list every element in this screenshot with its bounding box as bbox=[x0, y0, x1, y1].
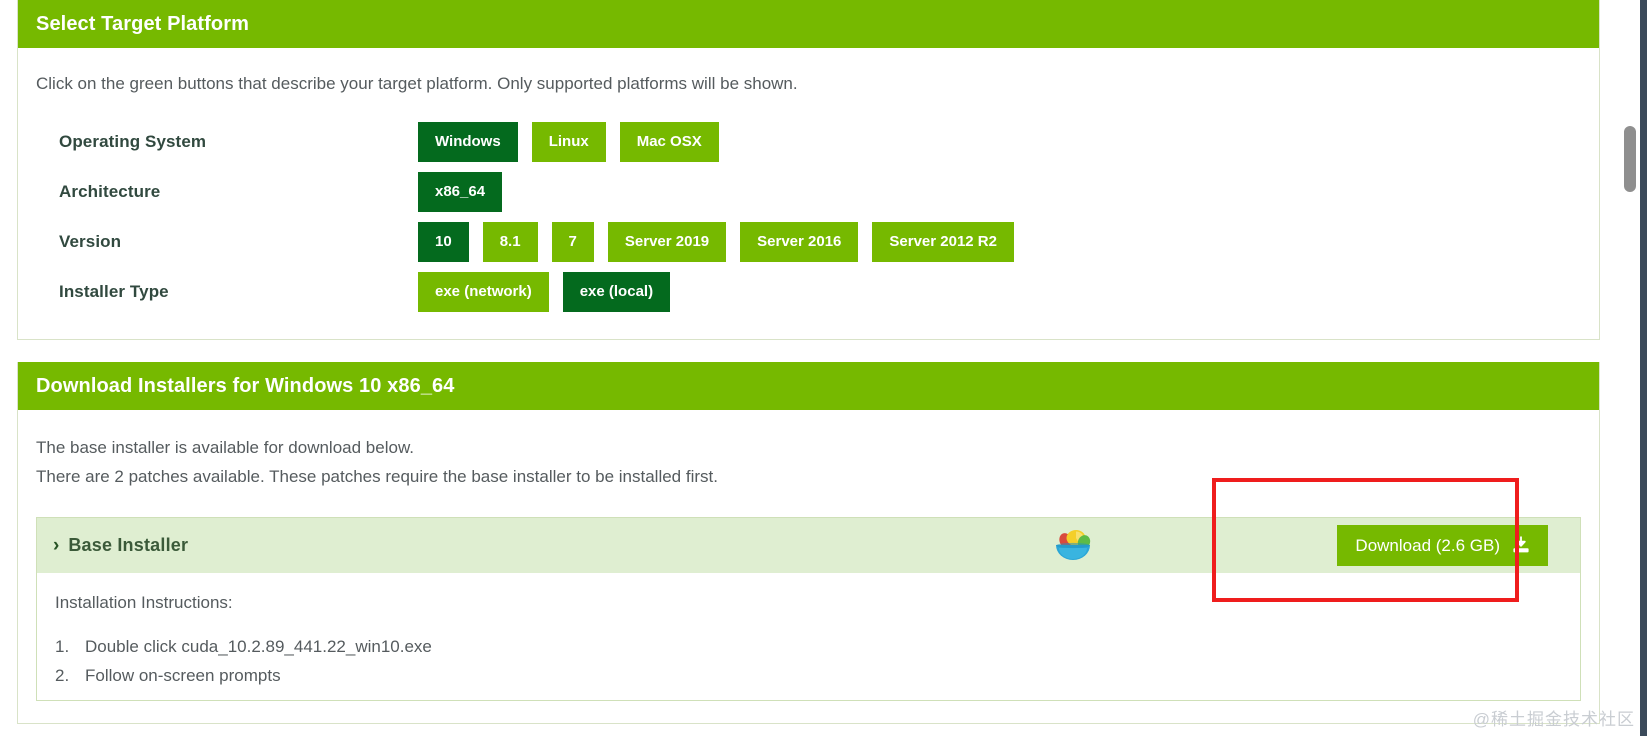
option-server-2016[interactable]: Server 2016 bbox=[740, 222, 858, 262]
option-server-2012-r2[interactable]: Server 2012 R2 bbox=[872, 222, 1014, 262]
option-version-8-1[interactable]: 8.1 bbox=[483, 222, 538, 262]
download-installers-panel: Download Installers for Windows 10 x86_6… bbox=[17, 362, 1600, 724]
download-button[interactable]: Download (2.6 GB) bbox=[1337, 525, 1548, 566]
base-installer-body: Installation Instructions: 1. Double cli… bbox=[37, 573, 1580, 700]
selector-options-installer-type: exe (network) exe (local) bbox=[418, 272, 670, 312]
option-exe-network[interactable]: exe (network) bbox=[418, 272, 549, 312]
selector-options-operating-system: Windows Linux Mac OSX bbox=[418, 122, 719, 162]
selector-label-version: Version bbox=[36, 232, 418, 252]
download-installers-body: The base installer is available for down… bbox=[18, 410, 1599, 723]
selector-options-architecture: x86_64 bbox=[418, 172, 502, 212]
instruction-text: Double click cuda_10.2.89_441.22_win10.e… bbox=[85, 637, 432, 656]
select-target-platform-panel: Select Target Platform Click on the gree… bbox=[17, 0, 1600, 340]
download-button-label: Download (2.6 GB) bbox=[1355, 537, 1500, 554]
content-column: Select Target Platform Click on the gree… bbox=[17, 0, 1600, 724]
download-tray-icon bbox=[1512, 536, 1530, 554]
selector-row-architecture: Architecture x86_64 bbox=[36, 167, 1581, 217]
download-description: The base installer is available for down… bbox=[36, 433, 1581, 491]
vertical-scrollbar[interactable] bbox=[1623, 0, 1637, 736]
panel-spacer bbox=[17, 340, 1600, 362]
option-exe-local[interactable]: exe (local) bbox=[563, 272, 670, 312]
select-target-platform-title: Select Target Platform bbox=[18, 0, 1599, 48]
scrollbar-thumb[interactable] bbox=[1624, 126, 1636, 192]
selector-row-version: Version 10 8.1 7 Server 2019 Server 2016… bbox=[36, 217, 1581, 267]
selector-label-operating-system: Operating System bbox=[36, 132, 418, 152]
installation-instructions-list: 1. Double click cuda_10.2.89_441.22_win1… bbox=[55, 632, 1580, 690]
selector-row-installer-type: Installer Type exe (network) exe (local) bbox=[36, 267, 1581, 317]
selector-label-architecture: Architecture bbox=[36, 182, 418, 202]
instruction-text: Follow on-screen prompts bbox=[85, 666, 281, 685]
base-installer-card: › Base Installer bbox=[36, 517, 1581, 701]
page-root: Select Target Platform Click on the gree… bbox=[0, 0, 1647, 736]
select-target-platform-body: Click on the green buttons that describe… bbox=[18, 48, 1599, 339]
instruction-number: 2. bbox=[55, 661, 69, 690]
download-installers-title: Download Installers for Windows 10 x86_6… bbox=[18, 362, 1599, 410]
option-mac-osx[interactable]: Mac OSX bbox=[620, 122, 719, 162]
instruction-item: 2. Follow on-screen prompts bbox=[55, 661, 1580, 690]
option-version-10[interactable]: 10 bbox=[418, 222, 469, 262]
fruit-bowl-icon bbox=[1050, 526, 1094, 568]
base-installer-label: Base Installer bbox=[68, 535, 188, 556]
base-installer-header[interactable]: › Base Installer bbox=[37, 518, 1580, 573]
selector-row-operating-system: Operating System Windows Linux Mac OSX bbox=[36, 117, 1581, 167]
watermark-text: @稀土掘金技术社区 bbox=[1473, 705, 1635, 730]
option-x86-64[interactable]: x86_64 bbox=[418, 172, 502, 212]
chevron-right-icon[interactable]: › bbox=[53, 536, 59, 555]
installation-instructions-title: Installation Instructions: bbox=[55, 593, 1580, 613]
option-version-7[interactable]: 7 bbox=[552, 222, 594, 262]
selector-label-installer-type: Installer Type bbox=[36, 282, 418, 302]
window-right-edge bbox=[1640, 0, 1647, 736]
selector-options-version: 10 8.1 7 Server 2019 Server 2016 Server … bbox=[418, 222, 1014, 262]
download-description-line-1: The base installer is available for down… bbox=[36, 433, 1581, 462]
instruction-item: 1. Double click cuda_10.2.89_441.22_win1… bbox=[55, 632, 1580, 661]
option-windows[interactable]: Windows bbox=[418, 122, 518, 162]
instruction-number: 1. bbox=[55, 632, 69, 661]
option-server-2019[interactable]: Server 2019 bbox=[608, 222, 726, 262]
platform-instructions-text: Click on the green buttons that describe… bbox=[36, 73, 1581, 95]
option-linux[interactable]: Linux bbox=[532, 122, 606, 162]
download-description-line-2: There are 2 patches available. These pat… bbox=[36, 462, 1581, 491]
